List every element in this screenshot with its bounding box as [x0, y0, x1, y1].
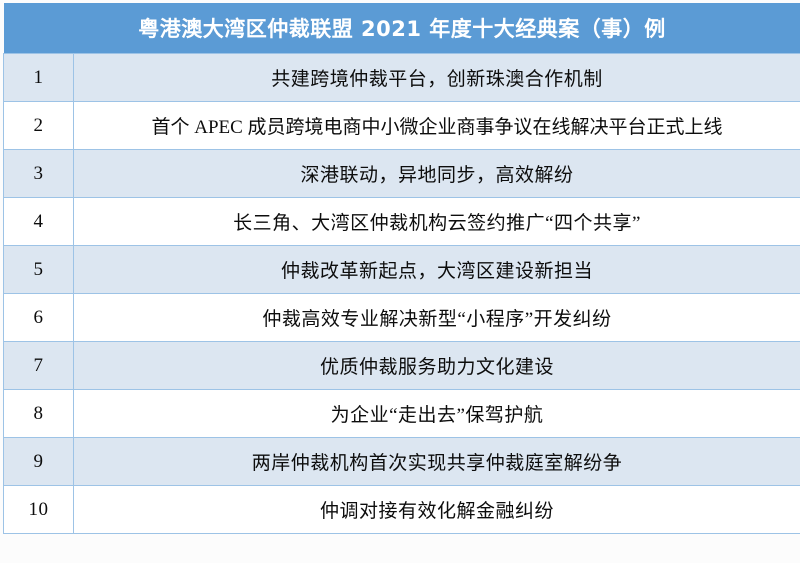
- row-index: 5: [4, 246, 74, 294]
- table-row: 2 首个 APEC 成员跨境电商中小微企业商事争议在线解决平台正式上线: [4, 102, 800, 150]
- row-title: 深港联动，异地同步，高效解纷: [74, 150, 800, 198]
- case-table-container: 粤港澳大湾区仲裁联盟 2021 年度十大经典案（事）例 1 共建跨境仲裁平台，创…: [3, 3, 800, 533]
- table-row: 1 共建跨境仲裁平台，创新珠澳合作机制: [4, 54, 800, 102]
- table-row: 7 优质仲裁服务助力文化建设: [4, 342, 800, 390]
- row-title: 仲调对接有效化解金融纠纷: [74, 486, 800, 534]
- row-title: 优质仲裁服务助力文化建设: [74, 342, 800, 390]
- top-ten-cases-table: 粤港澳大湾区仲裁联盟 2021 年度十大经典案（事）例 1 共建跨境仲裁平台，创…: [3, 3, 800, 534]
- table-row: 4 长三角、大湾区仲裁机构云签约推广“四个共享”: [4, 198, 800, 246]
- row-index: 2: [4, 102, 74, 150]
- table-row: 6 仲裁高效专业解决新型“小程序”开发纠纷: [4, 294, 800, 342]
- row-index: 10: [4, 486, 74, 534]
- document-root: 粤港澳大湾区仲裁联盟 2021 年度十大经典案（事）例 1 共建跨境仲裁平台，创…: [0, 0, 800, 563]
- row-title: 仲裁改革新起点，大湾区建设新担当: [74, 246, 800, 294]
- row-index: 7: [4, 342, 74, 390]
- row-title: 首个 APEC 成员跨境电商中小微企业商事争议在线解决平台正式上线: [74, 102, 800, 150]
- row-title: 长三角、大湾区仲裁机构云签约推广“四个共享”: [74, 198, 800, 246]
- row-title: 为企业“走出去”保驾护航: [74, 390, 800, 438]
- row-index: 1: [4, 54, 74, 102]
- table-row: 5 仲裁改革新起点，大湾区建设新担当: [4, 246, 800, 294]
- row-index: 4: [4, 198, 74, 246]
- table-row: 8 为企业“走出去”保驾护航: [4, 390, 800, 438]
- page-title: 粤港澳大湾区仲裁联盟 2021 年度十大经典案（事）例: [4, 3, 800, 54]
- row-title: 两岸仲裁机构首次实现共享仲裁庭室解纷争: [74, 438, 800, 486]
- row-index: 9: [4, 438, 74, 486]
- row-index: 3: [4, 150, 74, 198]
- table-header-row: 粤港澳大湾区仲裁联盟 2021 年度十大经典案（事）例: [4, 3, 800, 54]
- row-title: 共建跨境仲裁平台，创新珠澳合作机制: [74, 54, 800, 102]
- table-row: 3 深港联动，异地同步，高效解纷: [4, 150, 800, 198]
- table-row: 10 仲调对接有效化解金融纠纷: [4, 486, 800, 534]
- row-index: 6: [4, 294, 74, 342]
- row-title: 仲裁高效专业解决新型“小程序”开发纠纷: [74, 294, 800, 342]
- row-index: 8: [4, 390, 74, 438]
- table-row: 9 两岸仲裁机构首次实现共享仲裁庭室解纷争: [4, 438, 800, 486]
